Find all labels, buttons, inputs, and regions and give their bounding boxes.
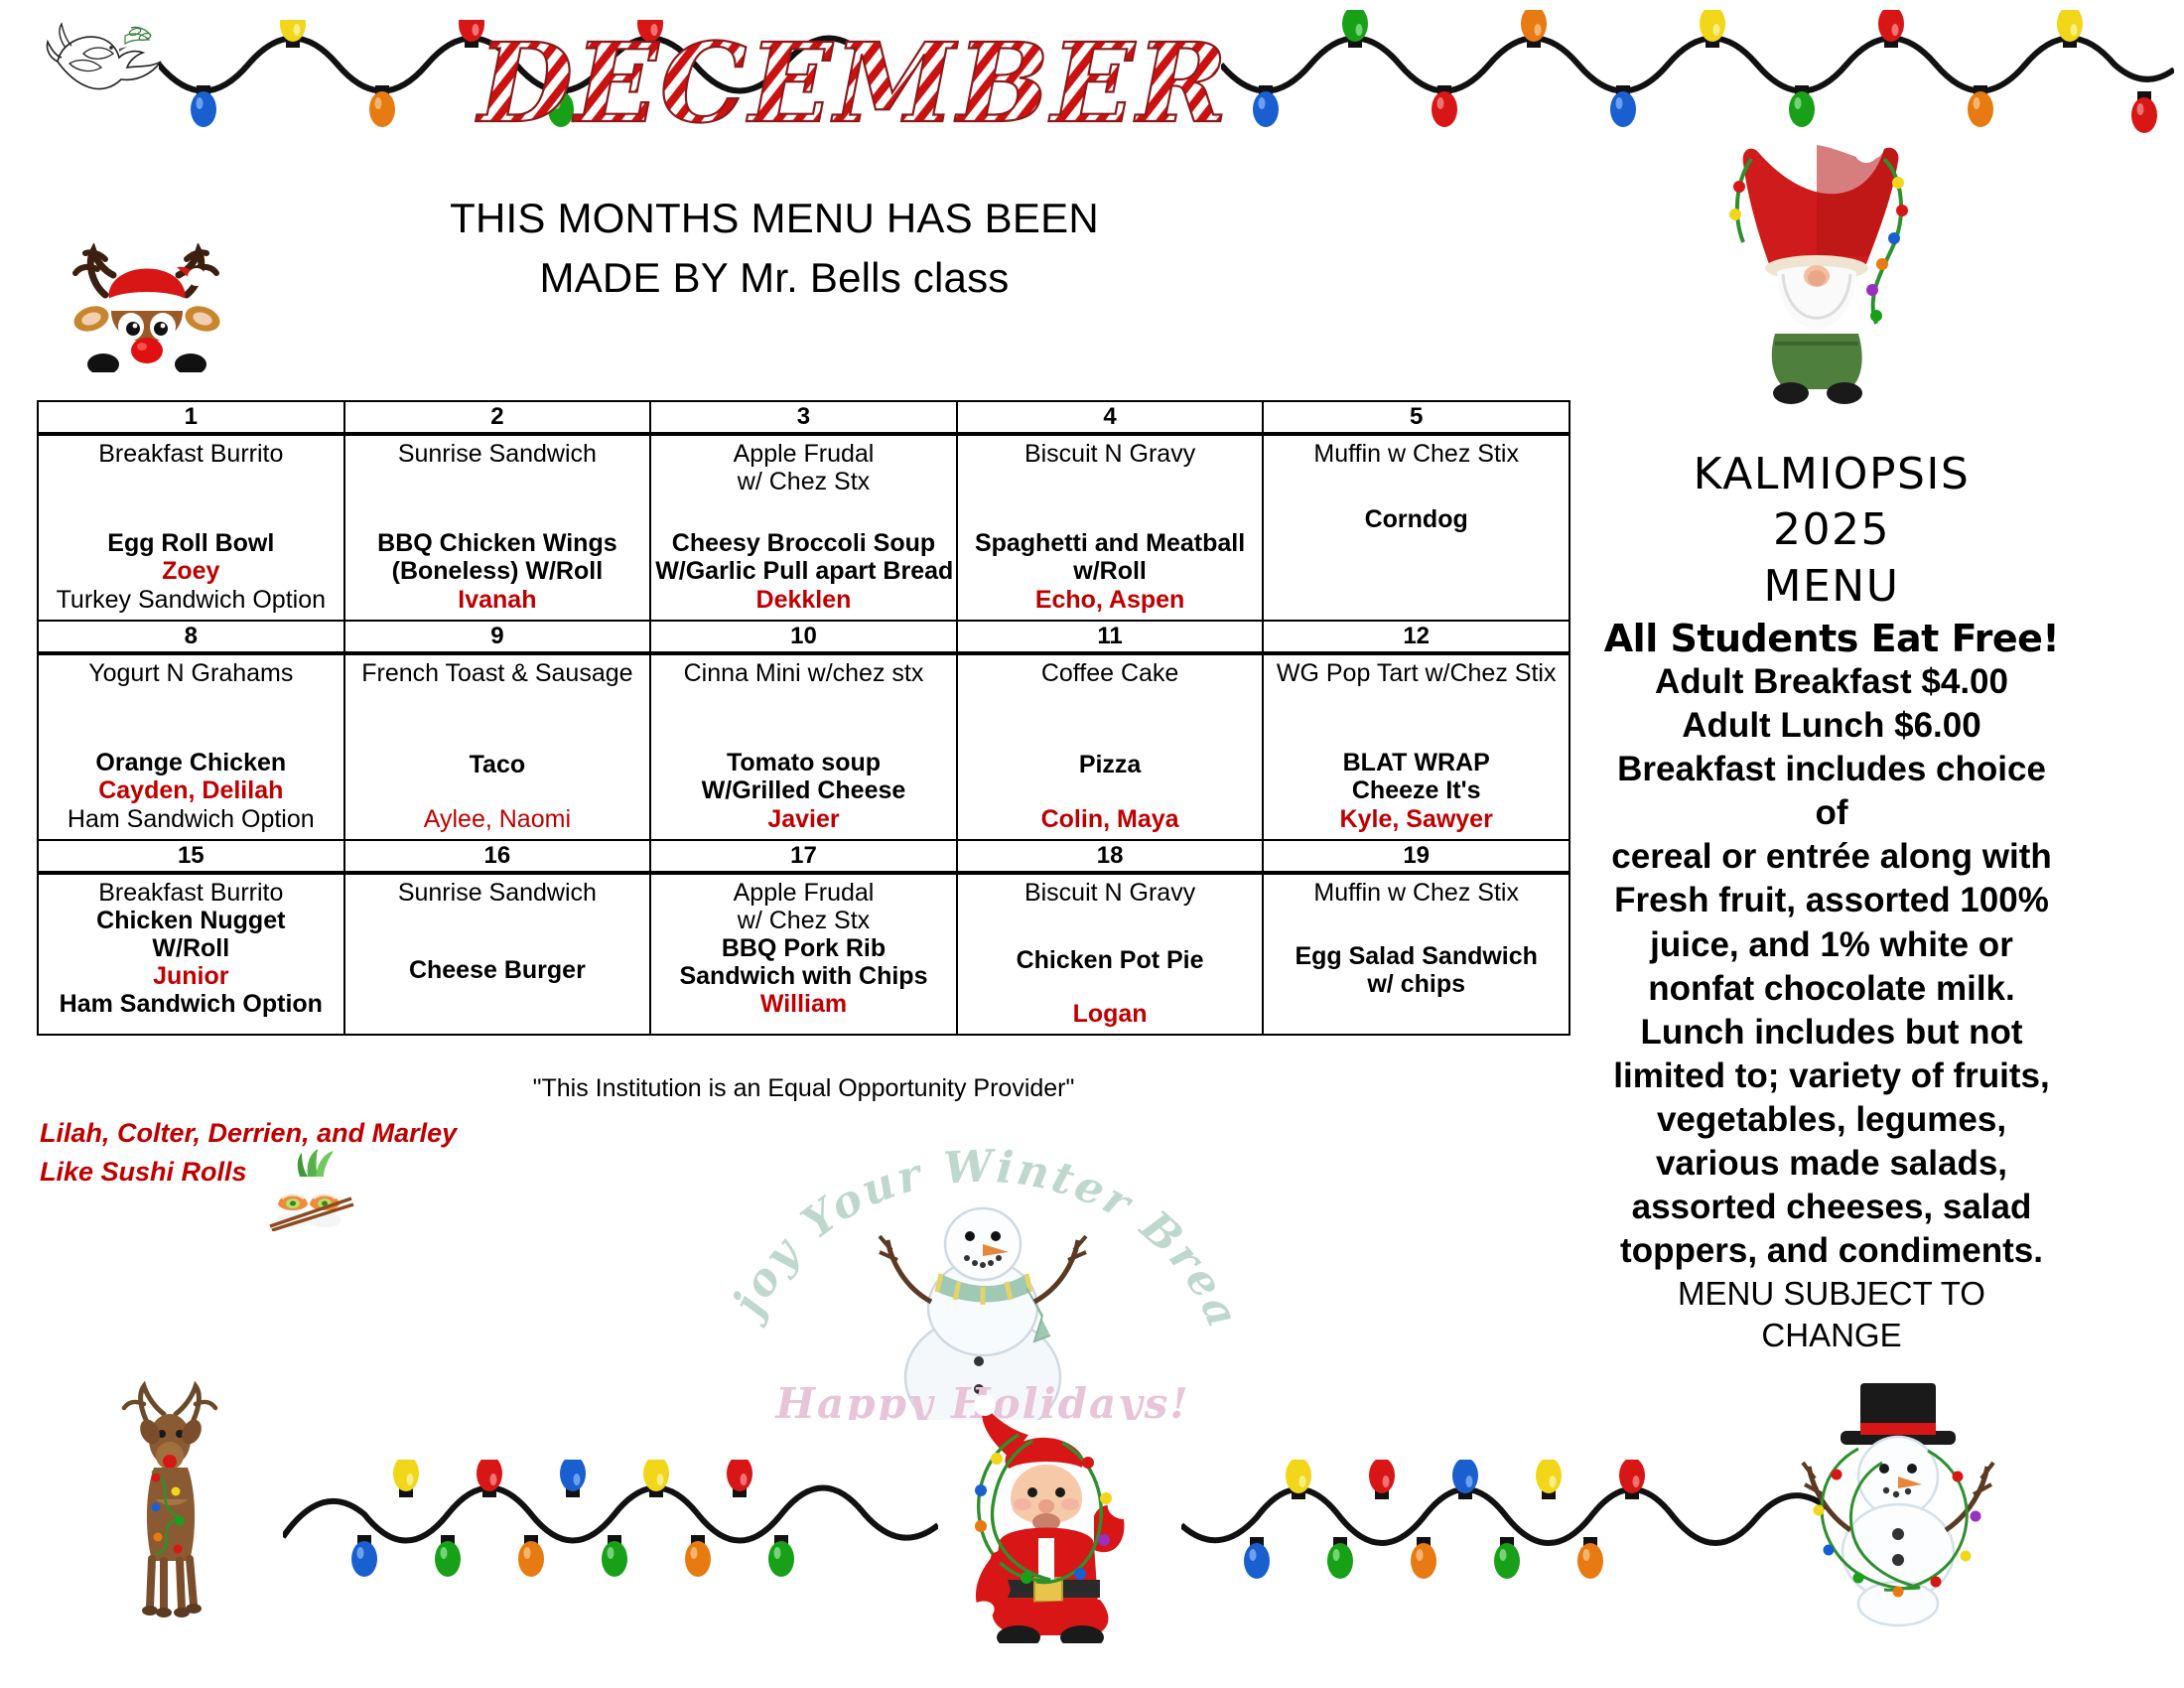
- lunch-item: Chicken Nugget: [43, 907, 340, 934]
- breakfast-item: Coffee Cake: [962, 659, 1259, 687]
- info-line: Lunch includes but not: [1603, 1011, 2060, 1055]
- student-name: Javier: [655, 805, 952, 834]
- lunch-item: BBQ Pork Rib: [655, 934, 952, 962]
- day-cell[interactable]: Cinna Mini w/chez stx Tomato soup W/Gril…: [650, 653, 957, 840]
- sandwich-option: Turkey Sandwich Option: [43, 586, 340, 615]
- lunch-item: Tomato soup: [655, 749, 952, 777]
- breakfast-item: Cinna Mini w/chez stx: [655, 659, 952, 687]
- day-cell[interactable]: Biscuit N Gravy Chicken Pot Pie Logan: [957, 873, 1264, 1035]
- day-cell[interactable]: Yogurt N Grahams Orange Chicken Cayden, …: [38, 653, 344, 840]
- december-candycane-text: DECEMBER: [467, 22, 1241, 151]
- breakfast-item-line2: w/ Chez Stx: [655, 907, 952, 934]
- reindeer-peeking-icon: [48, 243, 246, 372]
- day-number: 10: [650, 621, 957, 653]
- sandwich-option: Ham Sandwich Option: [43, 805, 340, 834]
- calendar-body: 1 2 3 4 5 Breakfast Burrito Egg Roll Bow…: [38, 401, 1570, 1035]
- lunch-item: Spaghetti and Meatball: [962, 529, 1259, 558]
- lunch-item: Egg Roll Bowl: [43, 529, 340, 558]
- christmas-lights-bottom-right: [1181, 1460, 1827, 1589]
- christmas-lights-bottom-left: [283, 1460, 938, 1589]
- day-cell[interactable]: Apple Frudal w/ Chez Stx Cheesy Broccoli…: [650, 434, 957, 621]
- school-name: KALMIOPSIS: [1603, 447, 2060, 502]
- day-cell[interactable]: Sunrise Sandwich BBQ Chicken Wings (Bone…: [344, 434, 651, 621]
- day-number: 16: [344, 840, 651, 873]
- student-name: Logan: [962, 1000, 1259, 1028]
- lunch-item: Chicken Pot Pie: [962, 946, 1259, 974]
- student-name: Dekklen: [655, 586, 952, 615]
- made-by-line-1: THIS MONTHS MENU HAS BEEN: [367, 189, 1181, 248]
- info-line: limited to; variety of fruits,: [1603, 1055, 2060, 1098]
- day-cell[interactable]: Breakfast Burrito Chicken Nugget W/Roll …: [38, 873, 344, 1035]
- day-cell[interactable]: Biscuit N Gravy Spaghetti and Meatball w…: [957, 434, 1264, 621]
- info-sidebar: KALMIOPSIS 2025 MENU All Students Eat Fr…: [1603, 447, 2060, 1355]
- day-number: 3: [650, 401, 957, 434]
- christmas-lights-top-right: [1221, 10, 2174, 139]
- calendar-menu-row: Breakfast Burrito Egg Roll Bowl Zoey Tur…: [38, 434, 1570, 621]
- day-cell[interactable]: French Toast & Sausage Taco Aylee, Naomi: [344, 653, 651, 840]
- lunch-item: BLAT WRAP: [1268, 749, 1565, 777]
- lunch-item-line2: Sandwich with Chips: [655, 962, 952, 990]
- info-line: various made salads,: [1603, 1142, 2060, 1186]
- student-name: Ivanah: [349, 586, 646, 615]
- student-name: William: [655, 990, 952, 1018]
- breakfast-item: Muffin w Chez Stix: [1268, 440, 1565, 468]
- info-line: juice, and 1% white or: [1603, 923, 2060, 967]
- lunch-item-line2: w/Roll: [962, 557, 1259, 586]
- made-by-heading: THIS MONTHS MENU HAS BEEN MADE BY Mr. Be…: [367, 189, 1181, 307]
- student-name: Zoey: [43, 557, 340, 586]
- breakfast-item: Apple Frudal: [655, 440, 952, 468]
- breakfast-item: Sunrise Sandwich: [349, 440, 646, 468]
- menu-year: 2025: [1603, 502, 2060, 558]
- sandwich-option: Ham Sandwich Option: [43, 990, 340, 1018]
- santa-with-lights-icon: [923, 1395, 1171, 1643]
- made-by-line-2: MADE BY Mr. Bells class: [367, 248, 1181, 308]
- day-number: 1: [38, 401, 344, 434]
- breakfast-item: Muffin w Chez Stix: [1268, 879, 1565, 907]
- breakfast-item: Breakfast Burrito: [43, 879, 340, 907]
- breakfast-item: WG Pop Tart w/Chez Stix: [1268, 659, 1565, 687]
- breakfast-item: Biscuit N Gravy: [962, 879, 1259, 907]
- info-line: assorted cheeses, salad: [1603, 1186, 2060, 1229]
- day-number: 2: [344, 401, 651, 434]
- lunch-item: Pizza: [962, 751, 1259, 779]
- day-number: 5: [1263, 401, 1570, 434]
- day-cell[interactable]: Coffee Cake Pizza Colin, Maya: [957, 653, 1264, 840]
- winter-break-snowman: Enjoy Your Winter Break!: [685, 1102, 1281, 1420]
- student-name: Kyle, Sawyer: [1268, 805, 1565, 834]
- day-cell[interactable]: WG Pop Tart w/Chez Stix BLAT WRAP Cheeze…: [1263, 653, 1570, 840]
- dove-icon: [40, 18, 169, 107]
- menu-calendar-table: 1 2 3 4 5 Breakfast Burrito Egg Roll Bow…: [37, 400, 1570, 1036]
- lunch-item-line2: W/Garlic Pull apart Bread: [655, 557, 952, 586]
- lunch-item: Corndog: [1268, 505, 1565, 534]
- day-cell[interactable]: Apple Frudal w/ Chez Stx BBQ Pork Rib Sa…: [650, 873, 957, 1035]
- day-number: 8: [38, 621, 344, 653]
- lunch-item: Taco: [349, 751, 646, 779]
- day-number: 15: [38, 840, 344, 873]
- info-line: toppers, and condiments.: [1603, 1229, 2060, 1273]
- equal-opportunity-statement: "This Institution is an Equal Opportunit…: [37, 1074, 1570, 1103]
- calendar-daynum-row: 1 2 3 4 5: [38, 401, 1570, 434]
- lunch-item: Orange Chicken: [43, 749, 340, 777]
- lunch-item-line2: W/Grilled Cheese: [655, 776, 952, 805]
- breakfast-item: Yogurt N Grahams: [43, 659, 340, 687]
- december-word: DECEMBER: [476, 22, 1230, 147]
- breakfast-item: Biscuit N Gravy: [962, 440, 1259, 468]
- lunch-item-line2: W/Roll: [43, 934, 340, 962]
- adult-lunch-price: Adult Lunch $6.00: [1603, 704, 2060, 748]
- day-cell[interactable]: Muffin w Chez Stix Corndog: [1263, 434, 1570, 621]
- breakfast-item: Breakfast Burrito: [43, 440, 340, 468]
- lunch-item-line2: (Boneless) W/Roll: [349, 557, 646, 586]
- menu-page: DECEMBER THIS MONTHS MENU HAS BEEN: [0, 0, 2184, 1688]
- day-number: 17: [650, 840, 957, 873]
- breakfast-item: Sunrise Sandwich: [349, 879, 646, 907]
- day-cell[interactable]: Sunrise Sandwich Cheese Burger: [344, 873, 651, 1035]
- day-number: 9: [344, 621, 651, 653]
- calendar-daynum-row: 15 16 17 18 19: [38, 840, 1570, 873]
- adult-breakfast-price: Adult Breakfast $4.00: [1603, 660, 2060, 704]
- info-line: vegetables, legumes,: [1603, 1098, 2060, 1142]
- lunch-item: Egg Salad Sandwich: [1268, 942, 1565, 970]
- day-number: 11: [957, 621, 1264, 653]
- student-name: Cayden, Delilah: [43, 776, 340, 805]
- snowman-with-lights-icon: [1787, 1365, 2015, 1633]
- info-paragraph: Breakfast includes choice of cereal or e…: [1603, 748, 2060, 1273]
- breakfast-item: Apple Frudal: [655, 879, 952, 907]
- december-title: DECEMBER: [467, 22, 1241, 151]
- breakfast-item-line2: w/ Chez Stx: [655, 468, 952, 495]
- lunch-item: Cheesy Broccoli Soup: [655, 529, 952, 558]
- info-line: Breakfast includes choice of: [1603, 748, 2060, 835]
- lunch-item-line2: Cheeze It's: [1268, 776, 1565, 805]
- student-name: Echo, Aspen: [962, 586, 1259, 615]
- sushi-roll-icon: [256, 1147, 365, 1231]
- breakfast-item: French Toast & Sausage: [349, 659, 646, 687]
- info-line: cereal or entrée along with: [1603, 835, 2060, 879]
- day-cell[interactable]: Muffin w Chez Stix Egg Salad Sandwich w/…: [1263, 873, 1570, 1035]
- menu-word: MENU: [1603, 559, 2060, 615]
- student-name: Aylee, Naomi: [349, 805, 646, 834]
- day-number: 12: [1263, 621, 1570, 653]
- info-line: Fresh fruit, assorted 100%: [1603, 879, 2060, 922]
- day-number: 4: [957, 401, 1264, 434]
- student-name: Colin, Maya: [962, 805, 1259, 834]
- lunch-item: BBQ Chicken Wings: [349, 529, 646, 558]
- day-cell[interactable]: Breakfast Burrito Egg Roll Bowl Zoey Tur…: [38, 434, 344, 621]
- calendar-menu-row: Breakfast Burrito Chicken Nugget W/Roll …: [38, 873, 1570, 1035]
- lunch-item-line2: w/ chips: [1268, 970, 1565, 998]
- reindeer-with-lights-icon: [94, 1380, 253, 1628]
- menu-subject-to-change: MENU SUBJECT TO CHANGE: [1603, 1273, 2060, 1355]
- day-number: 19: [1263, 840, 1570, 873]
- day-number: 18: [957, 840, 1264, 873]
- calendar-menu-row: Yogurt N Grahams Orange Chicken Cayden, …: [38, 653, 1570, 840]
- all-students-eat-free: All Students Eat Free!: [1603, 617, 2060, 660]
- calendar-daynum-row: 8 9 10 11 12: [38, 621, 1570, 653]
- info-line: nonfat chocolate milk.: [1603, 967, 2060, 1011]
- gnome-icon: [1717, 139, 1916, 407]
- student-name: Junior: [43, 962, 340, 990]
- lunch-item: Cheese Burger: [349, 956, 646, 984]
